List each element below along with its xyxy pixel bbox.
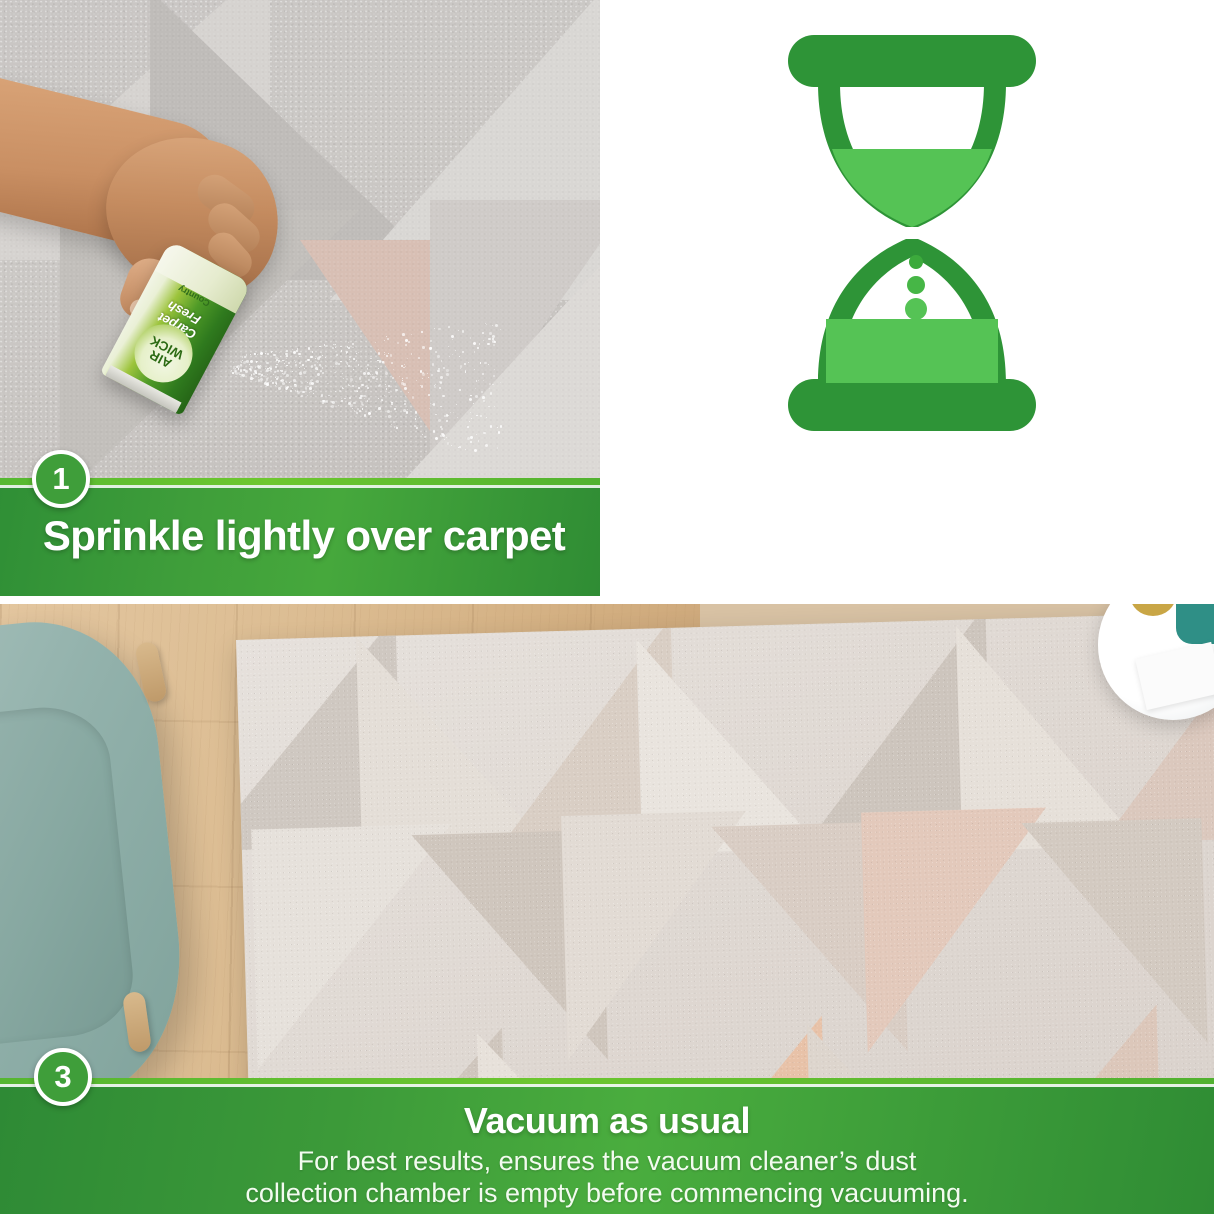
hourglass-sand-dot xyxy=(909,255,923,269)
infographic-root: Country Carpet Fresh AIR WICK 1 Sprinkle… xyxy=(0,0,1214,1214)
can-brand-label: AIR WICK xyxy=(132,328,195,378)
step-2-panel: 2 Wait for a few minutes xyxy=(608,0,1214,600)
table-object-teal xyxy=(1176,604,1214,644)
hourglass-icon xyxy=(746,27,1076,437)
step-3-subtitle-line-2: collection chamber is empty before comme… xyxy=(0,1178,1214,1210)
step-3-subtitle: For best results, ensures the vacuum cle… xyxy=(0,1146,1214,1210)
step-1-caption-bar: 1 Sprinkle lightly over carpet xyxy=(0,478,600,600)
carpet-triangle xyxy=(400,255,600,478)
top-row: Country Carpet Fresh AIR WICK 1 Sprinkle… xyxy=(0,0,1214,600)
step-3-panel: 3 Vacuum as usual For best results, ensu… xyxy=(0,604,1214,1214)
step-3-caption-bar: 3 Vacuum as usual For best results, ensu… xyxy=(0,1078,1214,1214)
hourglass-sand-dot xyxy=(907,276,925,294)
step-1-panel: Country Carpet Fresh AIR WICK 1 Sprinkle… xyxy=(0,0,600,600)
panel-divider-vertical xyxy=(600,0,608,600)
step-1-badge: 1 xyxy=(32,450,90,508)
hourglass-sand-dot xyxy=(905,298,927,320)
step-3-badge: 3 xyxy=(34,1048,92,1106)
step-3-number: 3 xyxy=(54,1059,71,1095)
step-3-subtitle-line-1: For best results, ensures the vacuum cle… xyxy=(0,1146,1214,1178)
step-1-caption: Sprinkle lightly over carpet xyxy=(0,512,600,560)
step-1-photo: Country Carpet Fresh AIR WICK xyxy=(0,0,600,478)
step-3-caption: Vacuum as usual xyxy=(0,1100,1214,1142)
panel-divider-horizontal xyxy=(0,596,1214,604)
step-1-number: 1 xyxy=(52,461,69,497)
